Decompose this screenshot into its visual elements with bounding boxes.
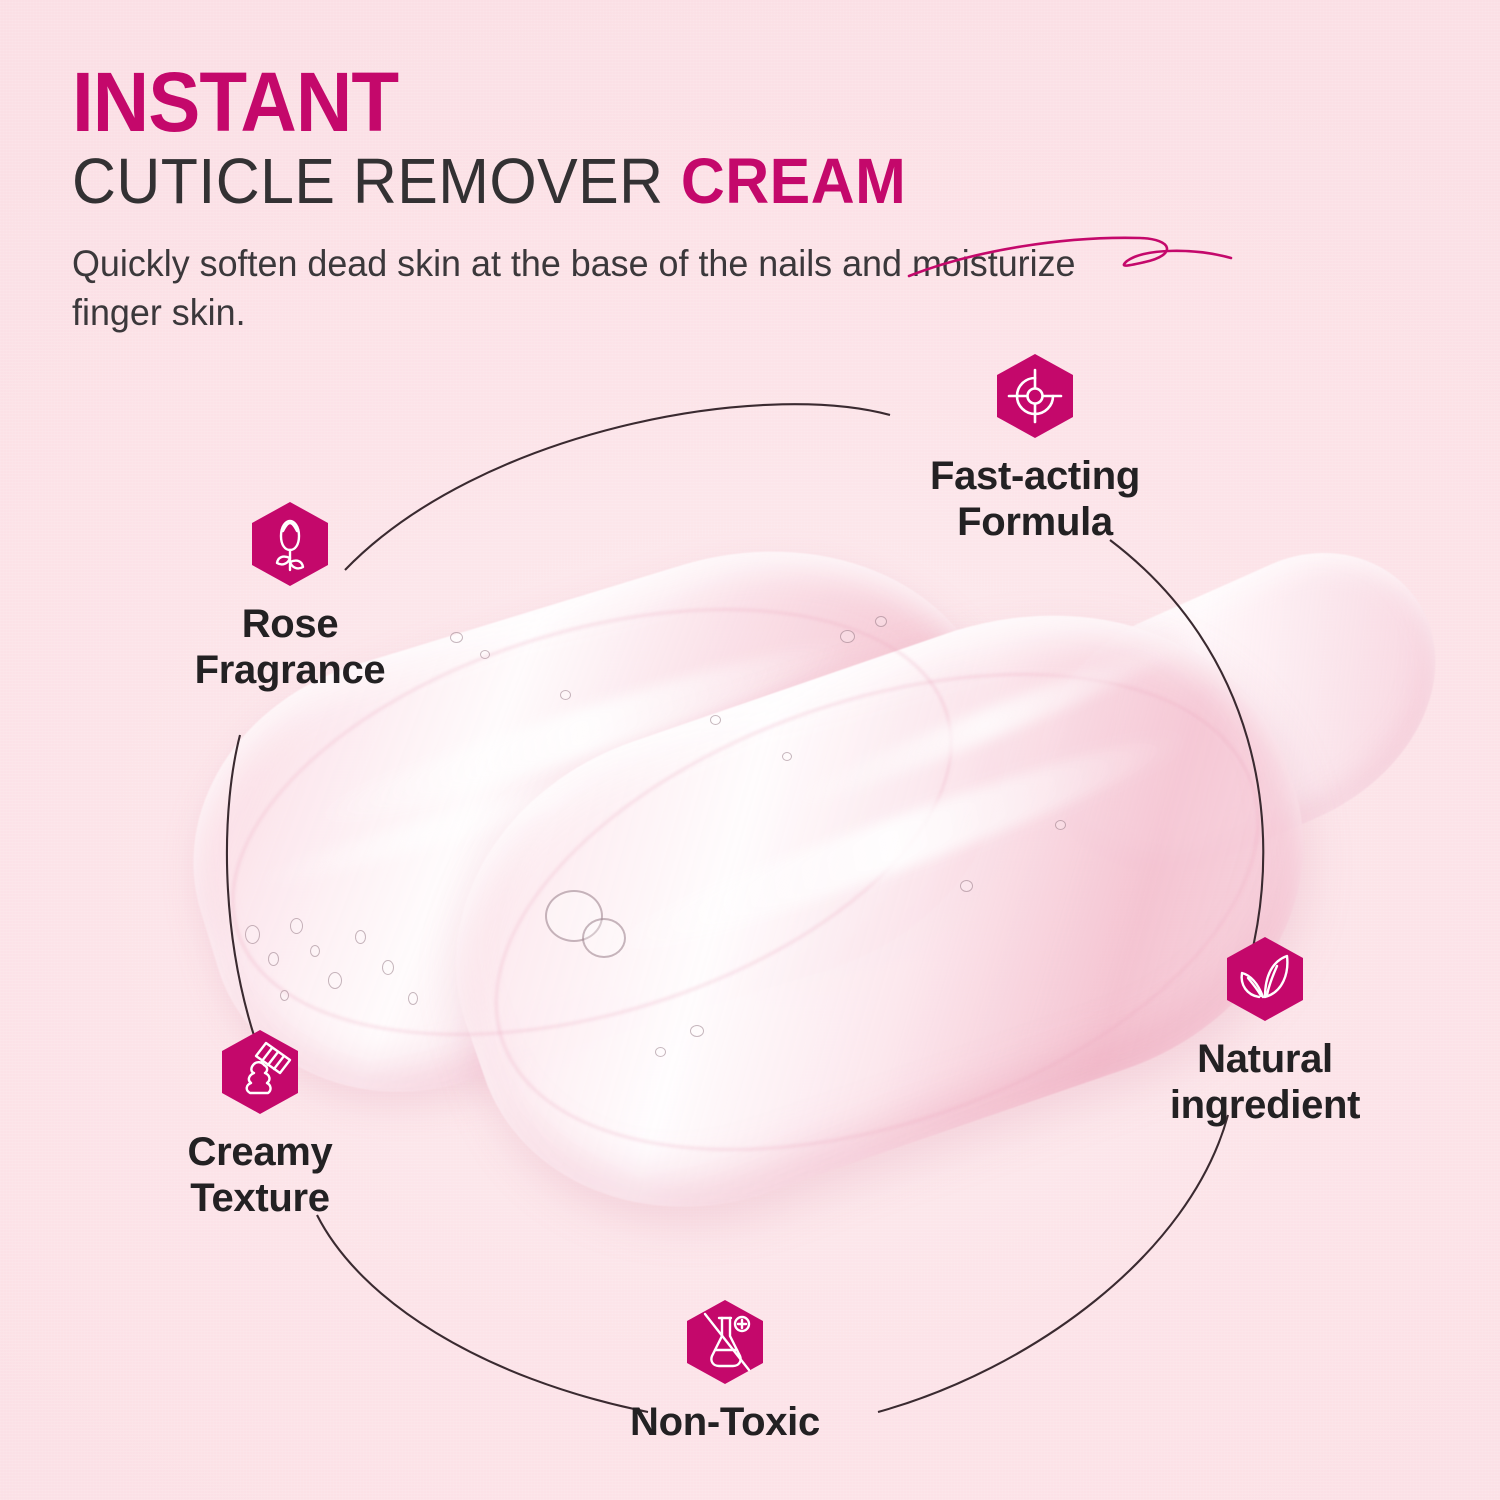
feature-icon-wrap bbox=[885, 352, 1185, 440]
gel-bubble bbox=[382, 960, 394, 975]
feature-icon-wrap bbox=[140, 500, 440, 588]
gel-bubble bbox=[875, 616, 887, 627]
feature-natural-ingredient[interactable]: Natural ingredient bbox=[1115, 935, 1415, 1128]
gel-bubble bbox=[1055, 820, 1066, 830]
gel-bubble bbox=[268, 952, 279, 966]
gel-bubble bbox=[328, 972, 342, 989]
gel-bubble bbox=[480, 650, 490, 659]
feature-label: Fast-acting Formula bbox=[885, 454, 1185, 545]
gel-bubble bbox=[280, 990, 289, 1001]
target-crosshair-icon bbox=[995, 352, 1075, 440]
gel-bubble bbox=[710, 715, 721, 725]
gel-bubble-large bbox=[582, 918, 626, 958]
feature-label: Creamy Texture bbox=[110, 1130, 410, 1221]
feature-rose-fragrance[interactable]: Rose Fragrance bbox=[140, 500, 440, 693]
gel-bubble bbox=[245, 925, 260, 944]
feature-fast-acting-formula[interactable]: Fast-acting Formula bbox=[885, 352, 1185, 545]
gel-bubble bbox=[560, 690, 571, 700]
leaves-icon bbox=[1225, 935, 1305, 1023]
feature-label: Natural ingredient bbox=[1115, 1037, 1415, 1128]
page-title-secondary-plain: CUTICLE REMOVER bbox=[72, 145, 681, 217]
gel-bubble bbox=[290, 918, 303, 934]
feature-creamy-texture[interactable]: Creamy Texture bbox=[110, 1028, 410, 1221]
gel-bubble bbox=[310, 945, 320, 957]
gel-bubble bbox=[782, 752, 792, 761]
cream-swirl-tube-icon bbox=[220, 1028, 300, 1116]
feature-label: Non-Toxic bbox=[575, 1400, 875, 1446]
feature-icon-wrap bbox=[110, 1028, 410, 1116]
no-chemical-flask-icon bbox=[685, 1298, 765, 1386]
gel-bubble bbox=[655, 1047, 666, 1057]
feature-non-toxic[interactable]: Non-Toxic bbox=[575, 1298, 875, 1446]
gel-bubble bbox=[840, 630, 855, 643]
gel-bubble bbox=[408, 992, 418, 1005]
page-subtitle: Quickly soften dead skin at the base of … bbox=[72, 240, 1149, 338]
feature-label: Rose Fragrance bbox=[140, 602, 440, 693]
headline-block: INSTANT CUTICLE REMOVER CREAM Quickly so… bbox=[72, 62, 1392, 338]
page-title-secondary: CUTICLE REMOVER CREAM bbox=[72, 149, 1326, 214]
gel-bubble bbox=[960, 880, 973, 892]
feature-icon-wrap bbox=[575, 1298, 875, 1386]
rose-flower-icon bbox=[250, 500, 330, 588]
feature-icon-wrap bbox=[1115, 935, 1415, 1023]
page-title-secondary-accent: CREAM bbox=[681, 145, 906, 217]
gel-bubble bbox=[450, 632, 463, 643]
gel-bubble bbox=[355, 930, 366, 944]
gel-bubble bbox=[690, 1025, 704, 1037]
page-title-primary: INSTANT bbox=[72, 62, 1300, 143]
product-infographic: INSTANT CUTICLE REMOVER CREAM Quickly so… bbox=[0, 0, 1500, 1500]
